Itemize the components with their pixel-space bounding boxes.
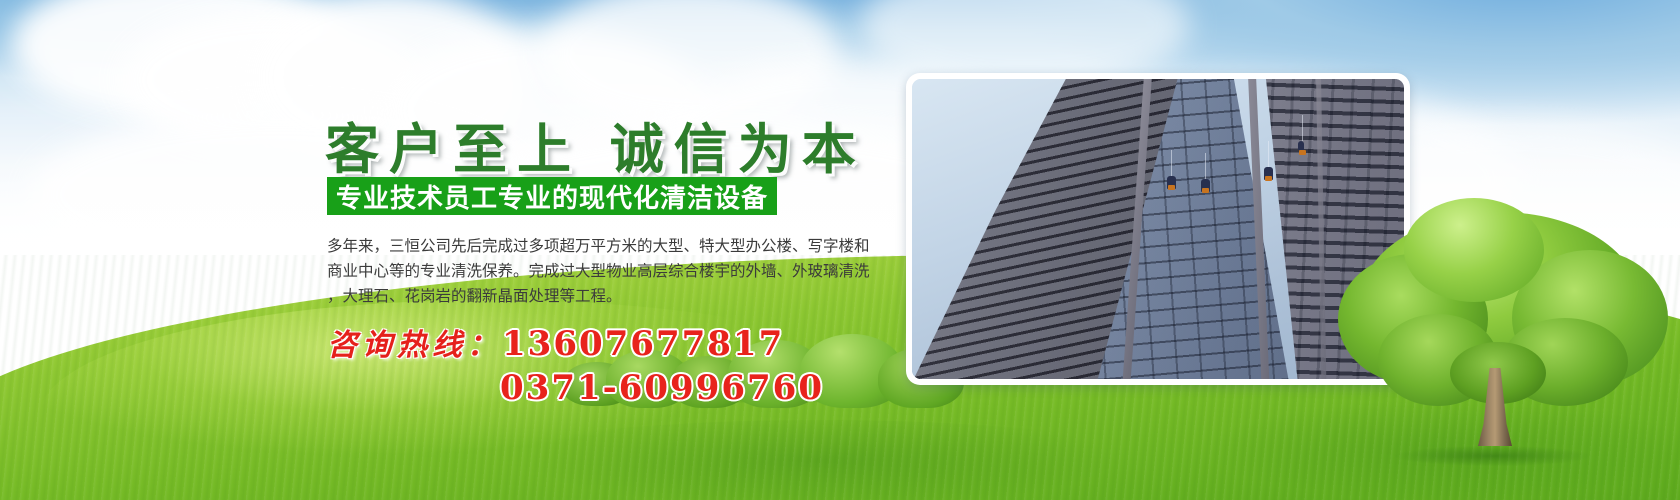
tree-icon — [1326, 192, 1666, 462]
phone-secondary[interactable]: 0371-60996760 — [500, 368, 824, 408]
window-cleaner-icon — [1264, 167, 1273, 180]
hotline-row-secondary: 0371-60996760 — [500, 368, 824, 408]
phone-primary[interactable]: 13607677817 — [502, 324, 784, 364]
description-line-1: 多年来，三恒公司先后完成过多项超万平方米的大型、特大型办公楼、写字楼和 — [327, 234, 893, 259]
window-cleaner-icon — [1167, 176, 1176, 189]
description-line-2: 商业中心等的专业清洗保养。完成过大型物业高层综合楼宇的外墙、外玻璃清洗 — [327, 259, 893, 284]
window-cleaner-icon — [1298, 141, 1304, 150]
promo-banner: 客户至上 诚信为本 专业技术员工专业的现代化清洁设备 多年来，三恒公司先后完成过… — [0, 0, 1680, 500]
tagline-bar: 专业技术员工专业的现代化清洁设备 — [327, 177, 777, 215]
banner-headline: 客户至上 诚信为本 — [325, 105, 866, 184]
tagline-text: 专业技术员工专业的现代化清洁设备 — [336, 178, 768, 215]
description-line-3: ，大理石、花岗岩的翻新晶面处理等工程。 — [327, 284, 893, 309]
description-paragraph: 多年来，三恒公司先后完成过多项超万平方米的大型、特大型办公楼、写字楼和 商业中心… — [327, 234, 893, 309]
hotline-label: 咨询热线： — [327, 320, 502, 364]
tree-canopy — [1404, 198, 1544, 302]
window-cleaner-icon — [1201, 179, 1210, 192]
hotline-row-primary: 咨询热线： 13607677817 — [327, 320, 784, 364]
